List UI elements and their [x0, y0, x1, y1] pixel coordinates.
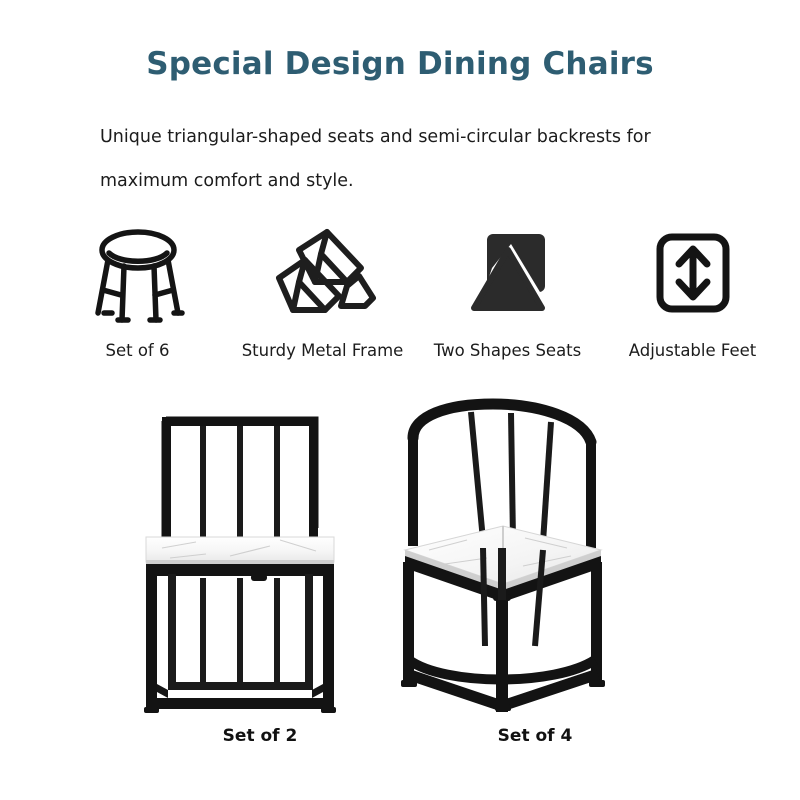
feature-item-set-of-6: Set of 6 — [45, 218, 230, 362]
feature-item-adjustable-feet: Adjustable Feet — [600, 218, 785, 362]
caption-set-of-2: Set of 2 — [110, 726, 410, 746]
caption-set-of-4: Set of 4 — [385, 726, 685, 746]
metal-ingots-icon — [265, 218, 381, 330]
feature-item-metal-frame: Sturdy Metal Frame — [230, 218, 415, 362]
page-title: Special Design Dining Chairs — [0, 44, 800, 84]
feature-item-two-shapes: Two Shapes Seats — [415, 218, 600, 362]
feature-label: Sturdy Metal Frame — [242, 340, 404, 362]
page-subtitle: Unique triangular-shaped seats and semi-… — [100, 115, 710, 203]
product-image-square-back-chair — [110, 398, 410, 718]
product-images — [0, 398, 800, 728]
product-captions: Set of 2 Set of 4 — [0, 726, 800, 766]
stool-icon — [84, 218, 192, 330]
feature-list: Set of 6 — [45, 218, 785, 383]
feature-label: Adjustable Feet — [629, 340, 757, 362]
feature-label: Set of 6 — [106, 340, 170, 362]
adjustable-height-icon — [639, 218, 747, 330]
product-image-curved-back-chair — [385, 398, 685, 718]
infographic-page: Special Design Dining Chairs Unique tria… — [0, 0, 800, 800]
feature-label: Two Shapes Seats — [434, 340, 582, 362]
two-shapes-seats-icon — [454, 218, 562, 330]
